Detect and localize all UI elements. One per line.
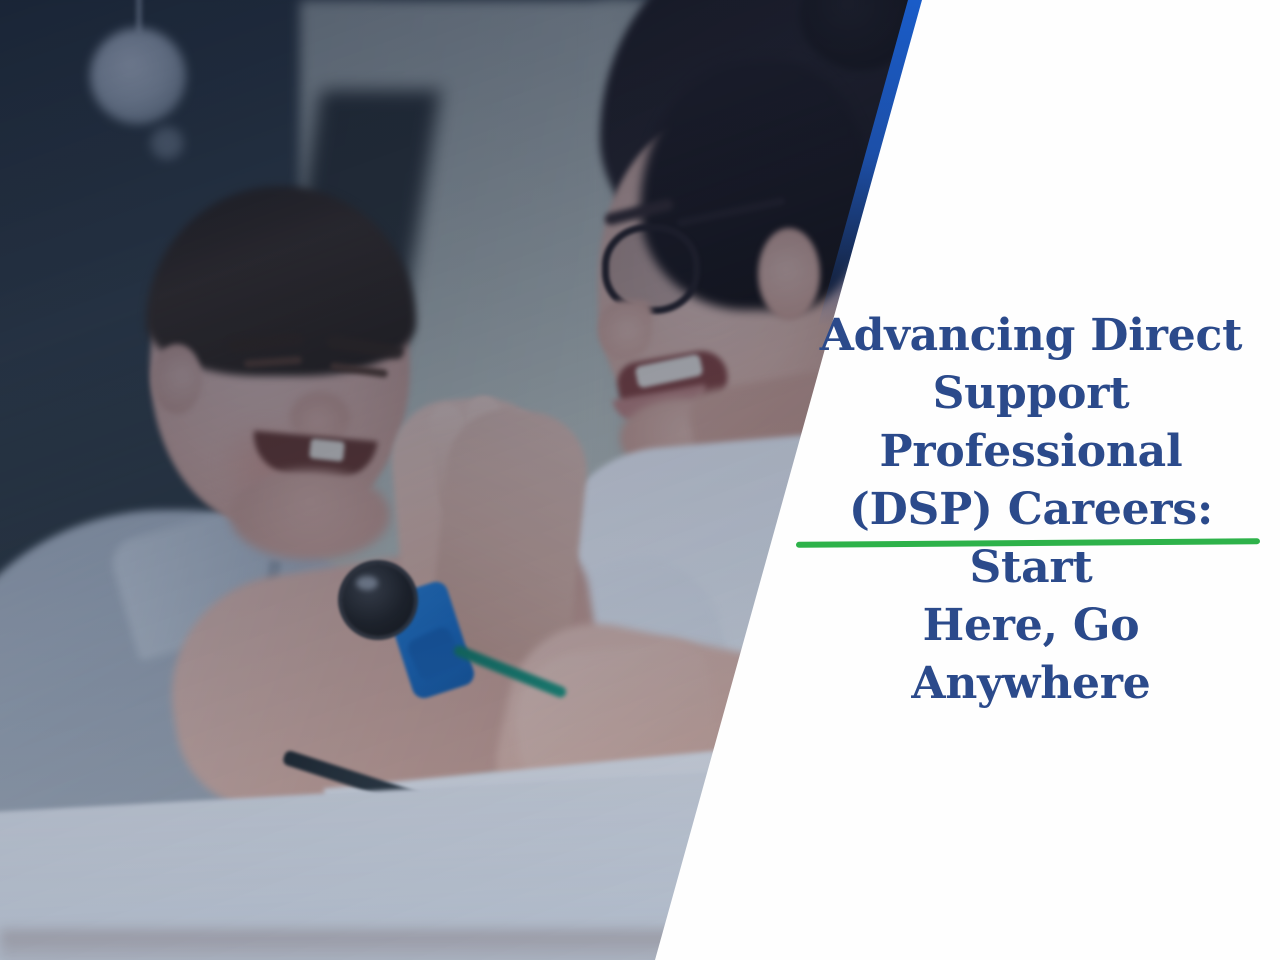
page-title: Advancing Direct Support Professional (D… — [800, 307, 1262, 713]
article-hero-banner: Advancing Direct Support Professional (D… — [0, 0, 1280, 960]
